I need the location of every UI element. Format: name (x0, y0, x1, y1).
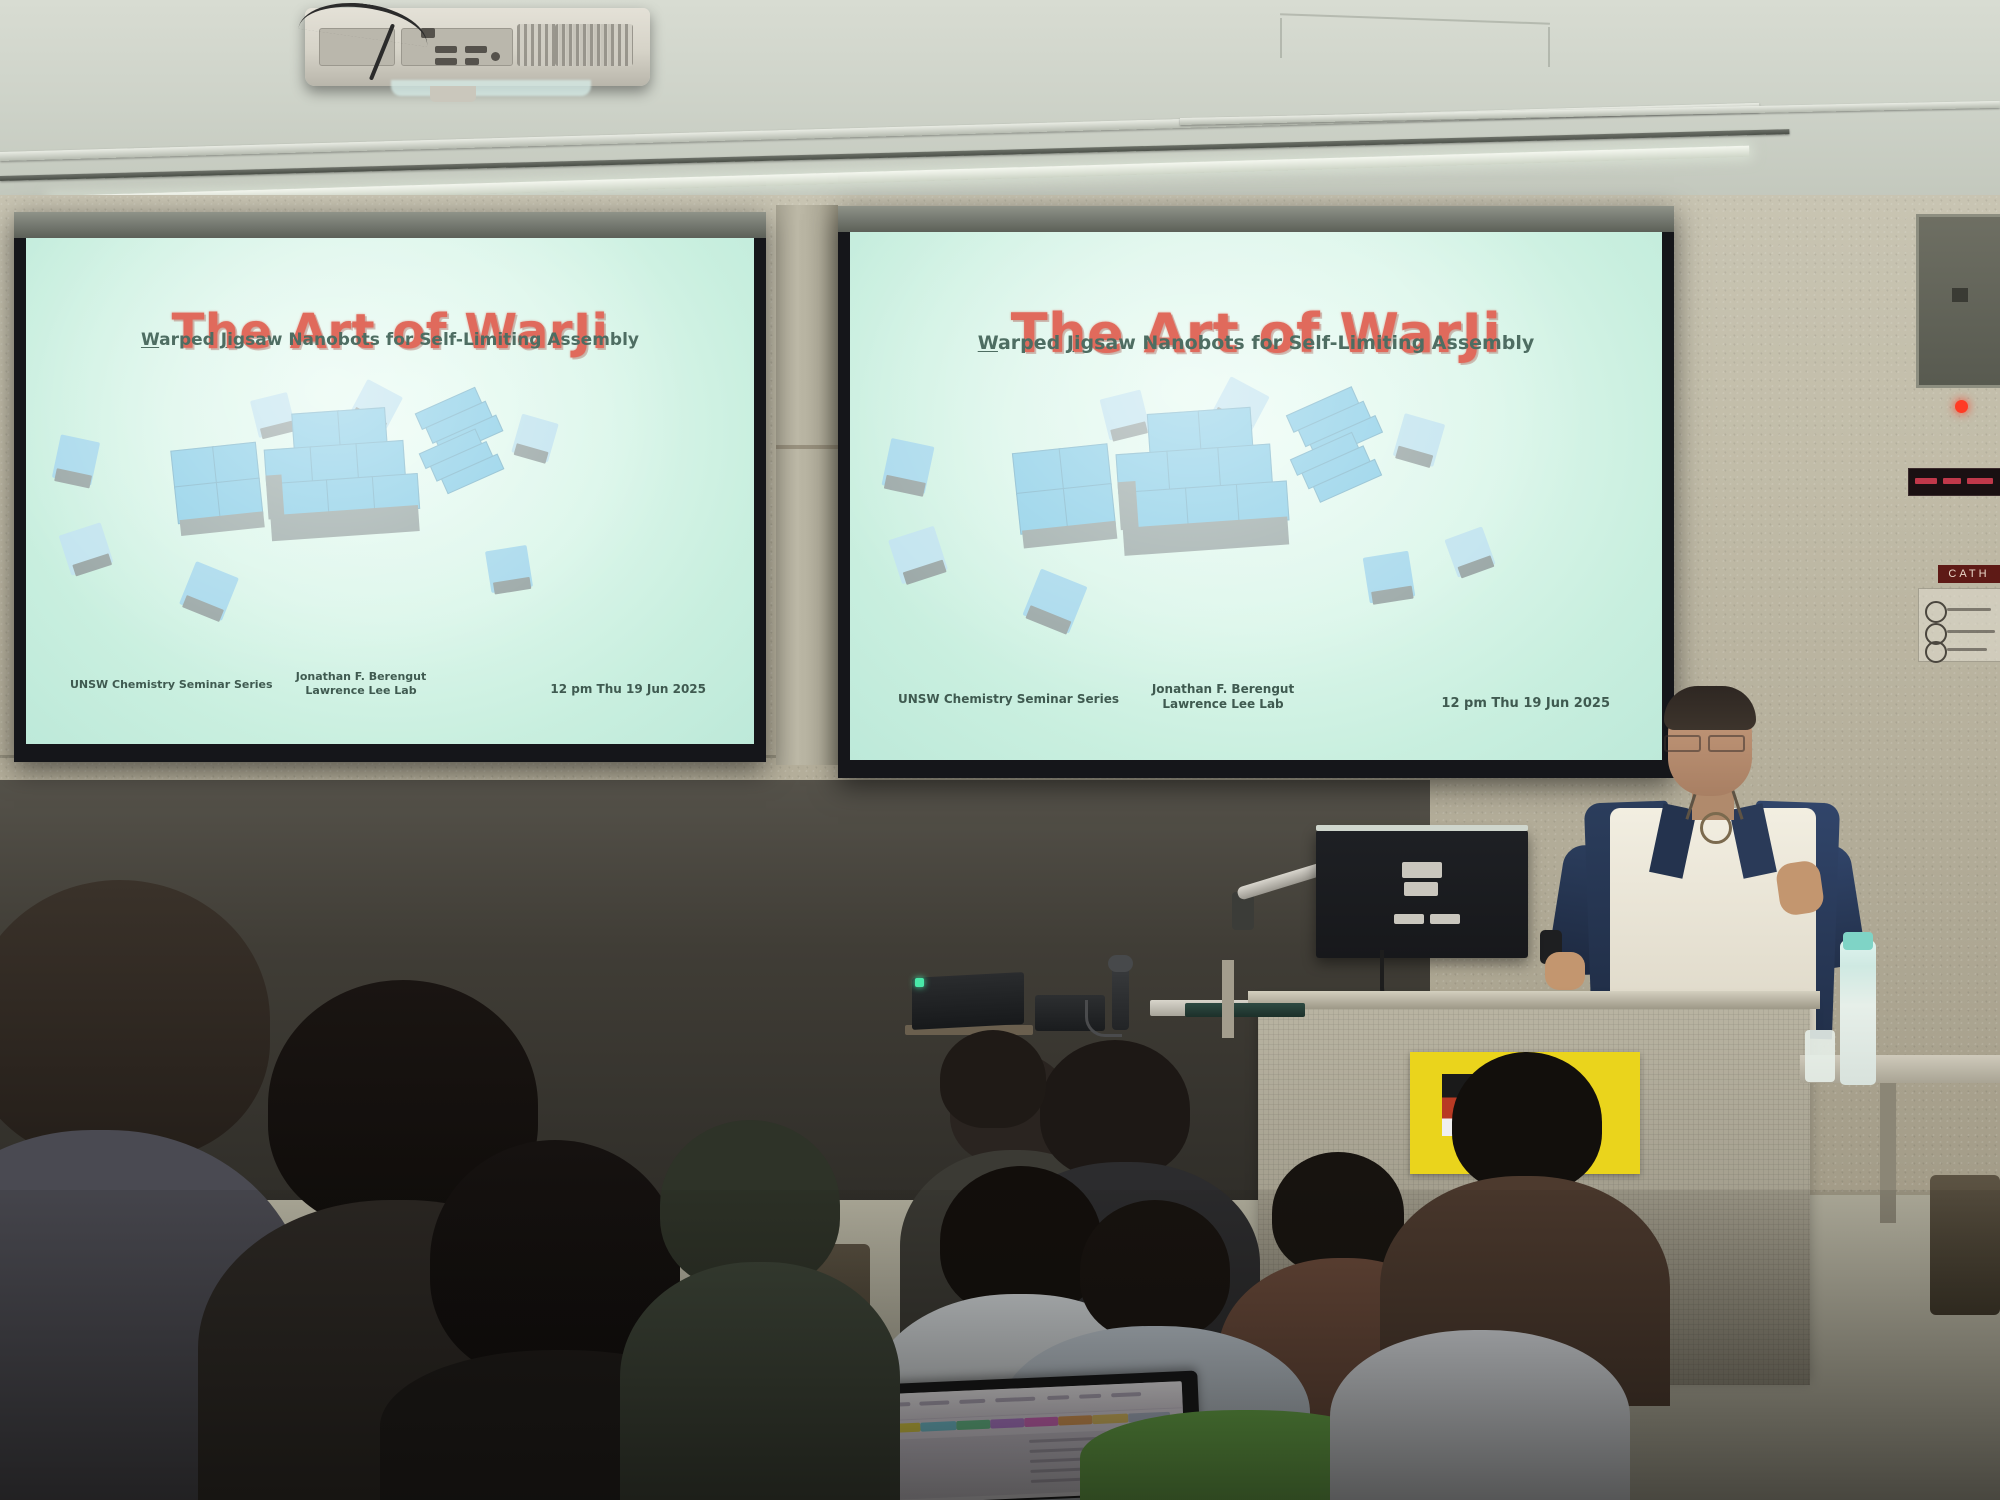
audience-body (620, 1262, 900, 1500)
assembled-jigsaw-nanobot (261, 405, 430, 556)
speaker-name: Jonathan F. Berengut (1118, 682, 1328, 697)
presenter-hair (1664, 686, 1756, 730)
assembled-jigsaw-nanobot (1113, 404, 1301, 570)
audience-head (1452, 1052, 1602, 1192)
second-bottle (1805, 1030, 1835, 1082)
lecture-theatre-photo: The Art of WarJi Warped Jigsaw Nanobots … (0, 0, 2000, 1500)
jigsaw-cluster (170, 442, 263, 527)
jigsaw-piece (52, 434, 100, 485)
water-bottle (1840, 940, 1876, 1085)
exit-light-strip (1908, 468, 2000, 496)
jigsaw-piece (59, 522, 114, 576)
no-drink-icon (1925, 641, 1947, 663)
cath-sign: CATH (1938, 565, 2000, 583)
av-status-led (915, 978, 924, 987)
jigsaw-piece (1363, 551, 1416, 604)
stool (1930, 1175, 2000, 1315)
cath-sign-label: CATH (1938, 565, 2000, 583)
gooseneck-microphone (1112, 962, 1129, 1030)
jigsaw-piece (888, 526, 948, 585)
presenter-monitor (1316, 830, 1528, 958)
jigsaw-cluster (1012, 443, 1116, 537)
screen-roller-right (838, 206, 1674, 232)
jigsaw-piece (1022, 568, 1087, 633)
jigsaw-piece (881, 438, 934, 494)
slide-footer-center: Jonathan F. Berengut Lawrence Lee Lab (1118, 682, 1328, 712)
slide-footer-right: 12 pm Thu 19 Jun 2025 (1320, 696, 1610, 712)
audience-head (940, 1030, 1046, 1128)
wall-column-between-screens (776, 205, 838, 765)
slide-footer-left: UNSW Chemistry Seminar Series (70, 678, 273, 692)
slide-footer-left: UNSW Chemistry Seminar Series (898, 692, 1119, 707)
no-entry-icon (1925, 601, 1947, 623)
right-projection-screen: The Art of WarJi Warped Jigsaw Nanobots … (838, 206, 1674, 778)
presenter-left-hand (1545, 952, 1585, 990)
prohibition-notice (1918, 588, 2000, 662)
jigsaw-piece (179, 561, 239, 621)
left-slide: The Art of WarJi Warped Jigsaw Nanobots … (26, 238, 754, 744)
right-slide: The Art of WarJi Warped Jigsaw Nanobots … (850, 232, 1662, 760)
slide-footer-center: Jonathan F. Berengut Lawrence Lee Lab (266, 670, 456, 698)
av-control-panel (912, 972, 1024, 1030)
slide-subtitle: Warped Jigsaw Nanobots for Self-Limiting… (850, 332, 1662, 354)
jigsaw-piece (1444, 526, 1495, 577)
red-indicator-led (1955, 400, 1968, 413)
necklace-pendant (1700, 812, 1732, 844)
microphone-head (1108, 955, 1133, 972)
lab-name: Lawrence Lee Lab (1118, 697, 1328, 712)
slide-footer-right: 12 pm Thu 19 Jun 2025 (446, 682, 706, 697)
jigsaw-piece (511, 414, 559, 463)
lectern-top-edge (1248, 991, 1820, 1009)
jigsaw-piece (1393, 413, 1446, 467)
side-table-leg (1880, 1083, 1896, 1223)
jigsaw-piece (485, 545, 533, 593)
screen-roller-left (14, 212, 766, 238)
desk-keyboard (1185, 1003, 1305, 1017)
desk-support-post (1222, 960, 1234, 1038)
water-bottle-cap (1843, 932, 1873, 950)
slide-subtitle-text: Warped Jigsaw Nanobots for Self-Limiting… (978, 332, 1535, 354)
panel-latch-icon (1952, 288, 1968, 302)
speaker-name: Jonathan F. Berengut (266, 670, 456, 684)
glasses-icon (1664, 735, 1756, 748)
projector-mount (430, 86, 476, 102)
slide-subtitle-text: Warped Jigsaw Nanobots for Self-Limiting… (141, 330, 639, 350)
slide-subtitle: Warped Jigsaw Nanobots for Self-Limiting… (26, 330, 754, 350)
audience-body (1330, 1330, 1630, 1500)
presenter-right-hand (1775, 859, 1826, 917)
audience-head (1080, 1200, 1230, 1340)
lab-name: Lawrence Lee Lab (266, 684, 456, 698)
audience-head (1040, 1040, 1190, 1178)
left-projection-screen: The Art of WarJi Warped Jigsaw Nanobots … (14, 212, 766, 762)
